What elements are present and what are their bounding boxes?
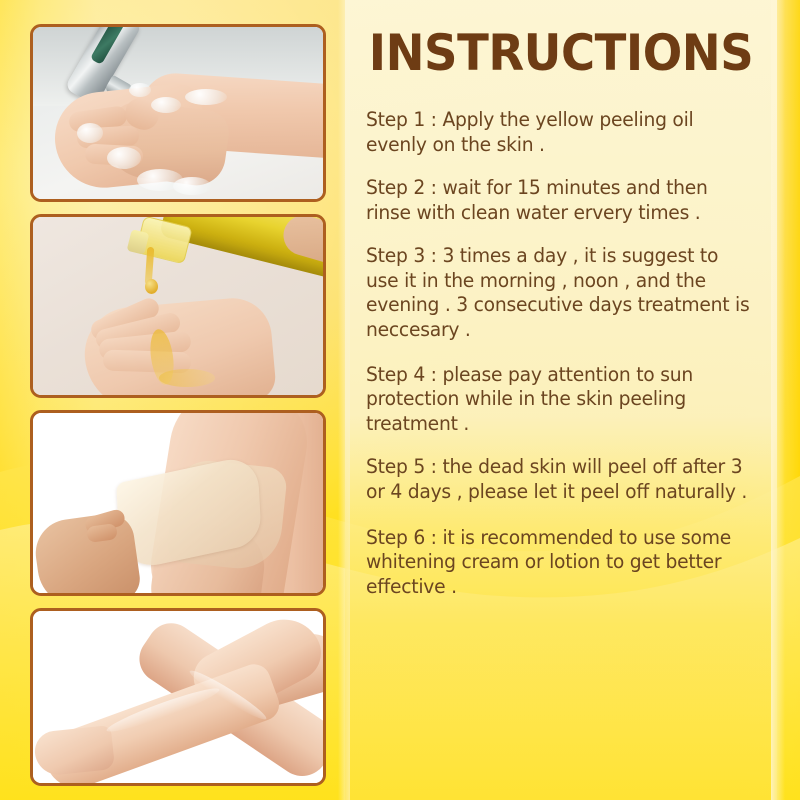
soap-suds <box>151 97 181 113</box>
step-item-3: Step 3 : 3 times a day , it is suggest t… <box>366 244 756 342</box>
step-item-1: Step 1 : Apply the yellow peeling oil ev… <box>366 108 756 157</box>
soap-suds <box>77 123 103 143</box>
soap-suds <box>107 147 141 169</box>
soap-suds <box>185 89 227 105</box>
instructions-poster: INSTRUCTIONS Step 1 : Apply the yellow p… <box>0 0 800 800</box>
photo-peeling-skin-scene <box>33 413 323 593</box>
oil-droplet <box>145 279 158 294</box>
photo-smooth-legs <box>30 608 326 786</box>
page-title: INSTRUCTIONS <box>360 28 762 78</box>
photo-oil-pouring <box>30 214 326 398</box>
photo-column <box>30 24 326 798</box>
soap-suds <box>173 177 211 195</box>
step-item-6: Step 6 : it is recommended to use some w… <box>366 526 756 600</box>
step-item-2: Step 2 : wait for 15 minutes and then ri… <box>366 176 756 225</box>
panel-right-edge <box>771 0 785 800</box>
photo-hands-washing-scene <box>33 27 323 199</box>
steps-list: Step 1 : Apply the yellow peeling oil ev… <box>366 108 766 599</box>
photo-peeling-skin <box>30 410 326 596</box>
photo-oil-pouring-scene <box>33 217 323 395</box>
step-item-5: Step 5 : the dead skin will peel off aft… <box>366 455 756 504</box>
soap-suds <box>129 83 151 97</box>
step-item-4: Step 4 : please pay attention to sun pro… <box>366 363 756 437</box>
photo-hands-washing <box>30 24 326 202</box>
foot <box>33 725 115 777</box>
photo-smooth-legs-scene <box>33 611 323 783</box>
oil-pool-spread <box>159 369 215 387</box>
